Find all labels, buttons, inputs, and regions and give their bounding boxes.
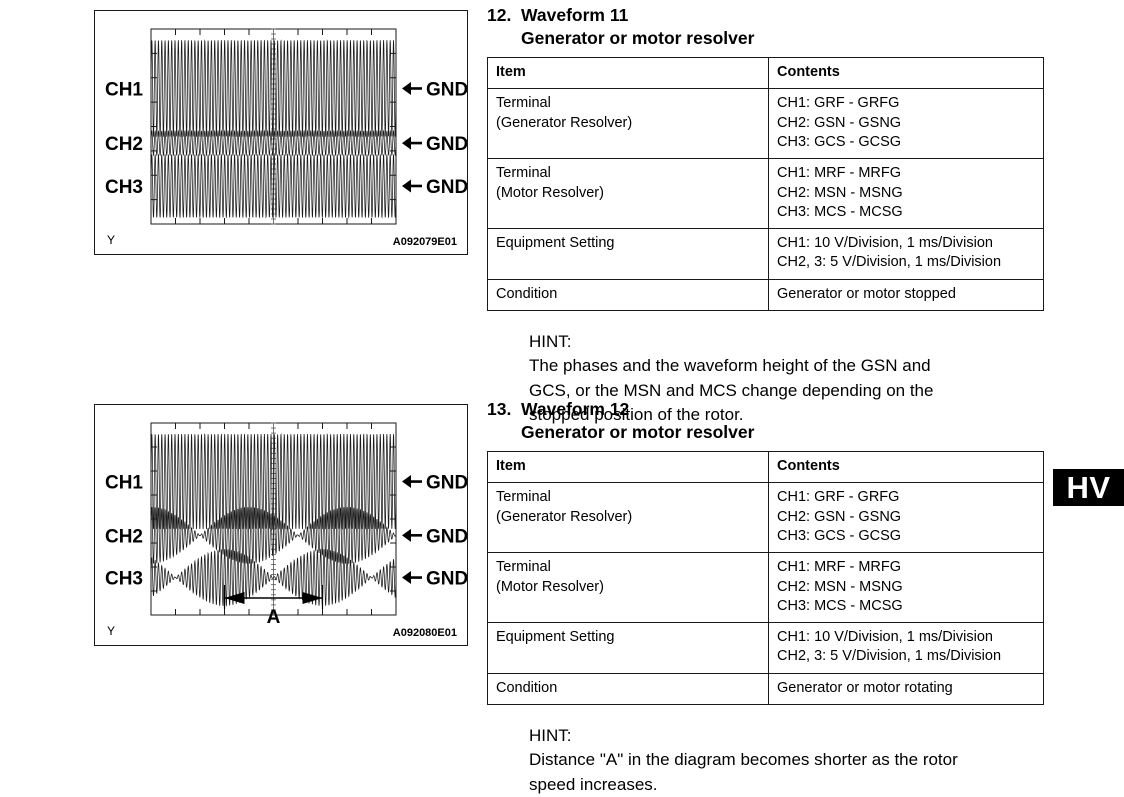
gnd-label-ch2: GND — [426, 134, 467, 155]
section-number: 12. — [487, 4, 521, 27]
cell-item: Terminal (Motor Resolver) — [488, 159, 769, 229]
channel-label-ch2: CH2 — [105, 526, 143, 547]
gnd-arrow-ch3 — [402, 571, 422, 584]
gnd-label-ch3: GND — [426, 569, 467, 590]
gnd-arrow-ch2 — [402, 529, 422, 542]
channel-label-ch1: CH1 — [105, 79, 143, 100]
section-waveform-12: 13. Waveform 12 Generator or motor resol… — [487, 398, 1043, 797]
cell-item: Terminal (Generator Resolver) — [488, 89, 769, 159]
hv-section-tab: HV — [1053, 469, 1124, 506]
spec-table: Item Contents Terminal (Generator Resolv… — [487, 57, 1044, 311]
section-waveform-11: 12. Waveform 11 Generator or motor resol… — [487, 4, 1043, 428]
cell-item: Condition — [488, 279, 769, 310]
column-header-item: Item — [488, 452, 769, 483]
scope-diagram: CH1GNDCH2GNDCH3GNDYA092079E01 — [95, 11, 467, 254]
column-header-item: Item — [488, 58, 769, 89]
cell-item: Equipment Setting — [488, 229, 769, 280]
table-header-row: Item Contents — [488, 452, 1044, 483]
table-row: Condition Generator or motor rotating — [488, 673, 1044, 704]
spec-table: Item Contents Terminal (Generator Resolv… — [487, 451, 1044, 705]
section-subtitle: Generator or motor resolver — [521, 27, 754, 50]
channel-label-ch3: CH3 — [105, 177, 143, 198]
figure-waveform-12: CH1GNDCH2GNDCH3GNDAYA092080E01 — [94, 404, 468, 646]
channel-label-ch2: CH2 — [105, 134, 143, 155]
figure-waveform-11: CH1GNDCH2GNDCH3GNDYA092079E01 — [94, 10, 468, 255]
cell-item: Terminal (Motor Resolver) — [488, 553, 769, 623]
table-row: Equipment Setting CH1: 10 V/Division, 1 … — [488, 229, 1044, 280]
cell-item: Condition — [488, 673, 769, 704]
cell-contents: CH1: MRF - MRFG CH2: MSN - MSNG CH3: MCS… — [769, 159, 1044, 229]
gnd-arrow-ch1 — [402, 475, 422, 488]
axis-marker-y: Y — [107, 233, 115, 247]
cell-contents: CH1: GRF - GRFG CH2: GSN - GSNG CH3: GCS… — [769, 89, 1044, 159]
section-title: Waveform 11 — [521, 4, 754, 27]
gnd-label-ch2: GND — [426, 526, 467, 547]
gnd-arrow-ch3 — [402, 179, 422, 192]
table-row: Terminal (Motor Resolver) CH1: MRF - MRF… — [488, 553, 1044, 623]
cell-contents: CH1: 10 V/Division, 1 ms/Division CH2, 3… — [769, 623, 1044, 674]
table-row: Terminal (Generator Resolver) CH1: GRF -… — [488, 483, 1044, 553]
section-heading: 12. Waveform 11 Generator or motor resol… — [487, 4, 1043, 50]
cell-contents: Generator or motor rotating — [769, 673, 1044, 704]
figure-part-number: A092079E01 — [393, 236, 457, 248]
table-row: Terminal (Generator Resolver) CH1: GRF -… — [488, 89, 1044, 159]
scope-diagram: CH1GNDCH2GNDCH3GNDAYA092080E01 — [95, 405, 467, 645]
table-row: Condition Generator or motor stopped — [488, 279, 1044, 310]
cell-contents: Generator or motor stopped — [769, 279, 1044, 310]
column-header-contents: Contents — [769, 58, 1044, 89]
cell-contents: CH1: MRF - MRFG CH2: MSN - MSNG CH3: MCS… — [769, 553, 1044, 623]
channel-label-ch1: CH1 — [105, 473, 143, 494]
table-row: Equipment Setting CH1: 10 V/Division, 1 … — [488, 623, 1044, 674]
section-subtitle: Generator or motor resolver — [521, 421, 754, 444]
hint-block: HINT: Distance "A" in the diagram become… — [487, 724, 1043, 797]
hint-label: HINT: — [529, 724, 1043, 748]
manual-page: CH1GNDCH2GNDCH3GNDYA092079E01 CH1GNDCH2G… — [0, 0, 1124, 763]
cell-item: Terminal (Generator Resolver) — [488, 483, 769, 553]
table-row: Terminal (Motor Resolver) CH1: MRF - MRF… — [488, 159, 1044, 229]
dimension-label-a: A — [267, 607, 281, 628]
gnd-label-ch3: GND — [426, 177, 467, 198]
gnd-label-ch1: GND — [426, 473, 467, 494]
cell-contents: CH1: 10 V/Division, 1 ms/Division CH2, 3… — [769, 229, 1044, 280]
channel-label-ch3: CH3 — [105, 569, 143, 590]
gnd-arrow-ch1 — [402, 82, 422, 95]
gnd-arrow-ch2 — [402, 137, 422, 150]
cell-item: Equipment Setting — [488, 623, 769, 674]
gnd-label-ch1: GND — [426, 79, 467, 100]
figure-part-number: A092080E01 — [393, 627, 457, 639]
column-header-contents: Contents — [769, 452, 1044, 483]
hv-tab-label: HV — [1066, 470, 1110, 506]
cell-contents: CH1: GRF - GRFG CH2: GSN - GSNG CH3: GCS… — [769, 483, 1044, 553]
axis-marker-y: Y — [107, 624, 115, 638]
section-title: Waveform 12 — [521, 398, 754, 421]
section-heading: 13. Waveform 12 Generator or motor resol… — [487, 398, 1043, 444]
table-header-row: Item Contents — [488, 58, 1044, 89]
hint-label: HINT: — [529, 330, 1043, 354]
section-number: 13. — [487, 398, 521, 421]
